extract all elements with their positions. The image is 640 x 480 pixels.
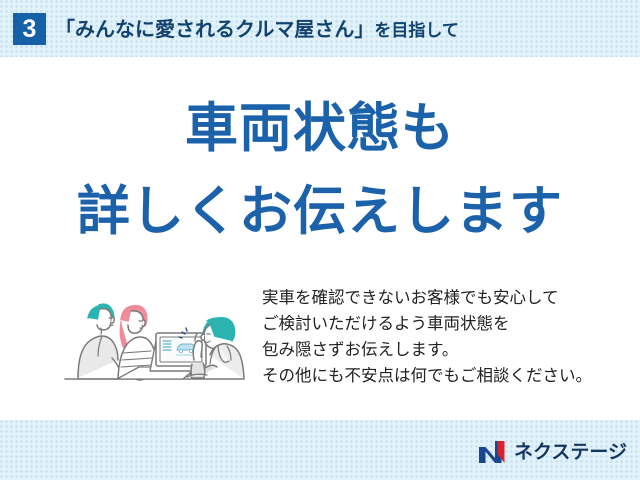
body-copy-line-2: ご検討いただけるよう車両状態を [262,311,622,337]
header-title-main: 「みんなに愛されるクルマ屋さん」 [55,17,374,41]
nextage-n-logo-icon [478,440,508,464]
nextage-logo-lockup: ネクステージ [478,438,627,466]
body-copy: 実車を確認できないお客様でも安心して ご検討いただけるよう車両状態を 包み隠さず… [262,285,622,389]
headline-line-1: 車両状態も [0,100,640,158]
body-copy-line-1: 実車を確認できないお客様でも安心して [262,285,622,311]
body-copy-line-3: 包み隠さずお伝えします。 [262,337,622,363]
nextage-wordmark: ネクステージ [514,440,627,464]
consultation-illustration [55,278,250,393]
body-copy-line-4: その他にも不安点は何でもご相談ください。 [262,363,622,389]
promotional-banner: 3 「みんなに愛されるクルマ屋さん」を目指して 車両状態も 詳しくお伝えします [0,0,640,480]
headline-line-2: 詳しくお伝えします [0,183,640,241]
header-title: 「みんなに愛されるクルマ屋さん」を目指して [55,14,459,45]
header-title-tail: を目指して [374,21,459,41]
consultation-illustration-svg [55,278,250,393]
step-number-badge: 3 [13,13,46,45]
